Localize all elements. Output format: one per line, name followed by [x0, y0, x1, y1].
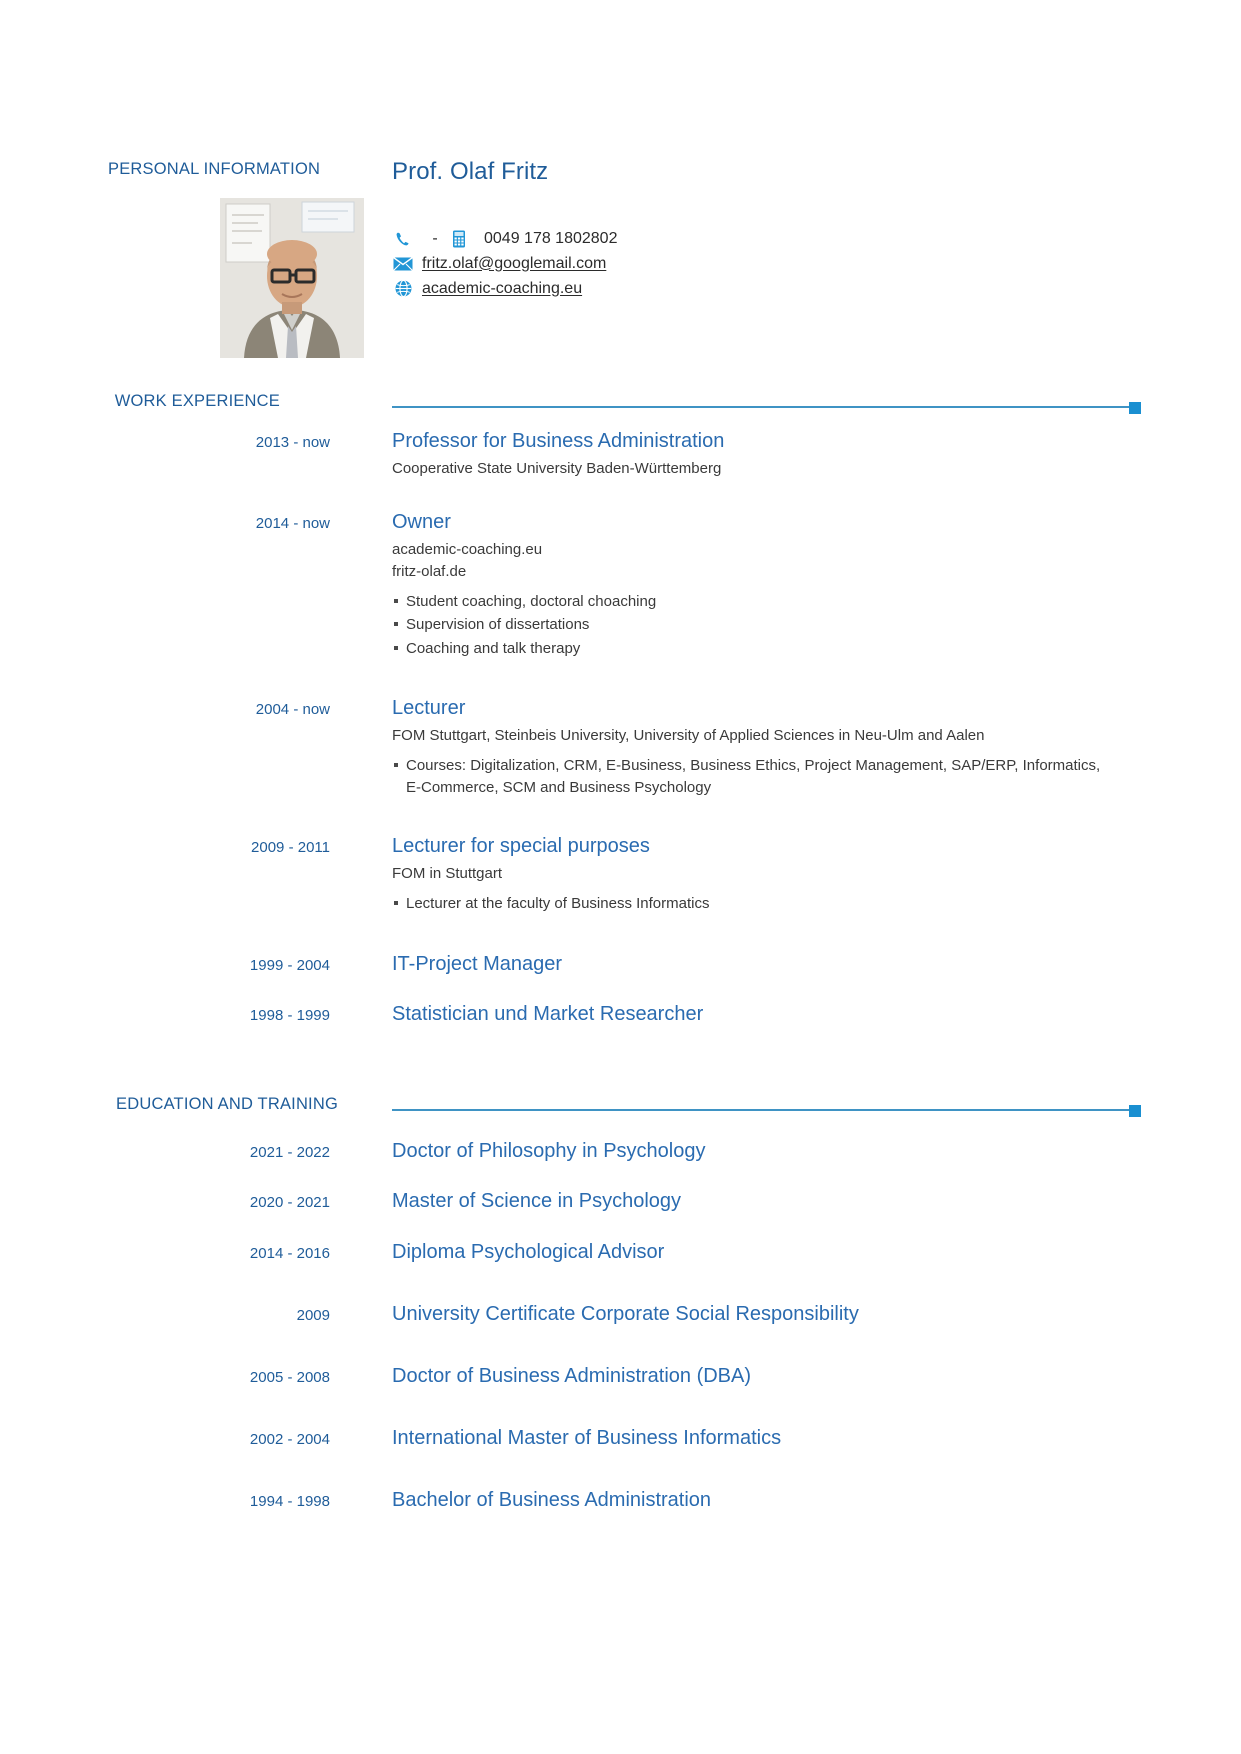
rule-line: [392, 406, 1129, 408]
list-item: Student coaching, doctoral choaching: [392, 591, 1181, 613]
entry-date: 2009: [0, 1307, 330, 1324]
entry-date: 2004 - now: [0, 701, 330, 718]
entry-title: Professor for Business Administration: [392, 430, 1181, 452]
entry-date: 2009 - 2011: [0, 839, 330, 856]
entry-bullet-list: Lecturer at the faculty of Business Info…: [392, 893, 1181, 915]
cv-sheet: PERSONAL INFORMATION Prof. Olaf Fritz: [0, 0, 1241, 1754]
list-item: Courses: Digitalization, CRM, E-Business…: [392, 755, 1106, 799]
entry-body: IT-Project Manager: [392, 953, 1181, 975]
entry-title: Diploma Psychological Advisor: [392, 1241, 1181, 1263]
entry-date: 2021 - 2022: [0, 1144, 330, 1161]
entry-date: 2013 - now: [0, 434, 330, 451]
contact-row-phone: - 0049 17: [392, 226, 1092, 251]
entry-title: Doctor of Philosophy in Psychology: [392, 1140, 1181, 1162]
entry-date: 2014 - 2016: [0, 1245, 330, 1262]
contact-row-website: academic-coaching.eu: [392, 276, 1092, 301]
work-experience-header: WORK EXPERIENCE: [0, 392, 1241, 414]
entry-subtitle: FOM in Stuttgart: [392, 863, 1181, 885]
education-header: EDUCATION AND TRAINING: [0, 1095, 1241, 1117]
entry-body: Lecturer FOM Stuttgart, Steinbeis Univer…: [392, 697, 1181, 800]
entry-title: IT-Project Manager: [392, 953, 1181, 975]
avatar: [220, 198, 364, 358]
personal-information-label: PERSONAL INFORMATION: [108, 160, 408, 179]
list-item: Coaching and talk therapy: [392, 638, 1181, 660]
mobile-phone-value: 0049 178 1802802: [484, 230, 617, 248]
entry-date: 2014 - now: [0, 515, 330, 532]
rule-line: [392, 1109, 1129, 1111]
entry-sub-line: academic-coaching.eu: [392, 539, 1181, 561]
work-experience-rule: [392, 402, 1141, 414]
entry-body: Statistician und Market Researcher: [392, 1003, 1181, 1025]
education-section: EDUCATION AND TRAINING: [0, 1095, 1241, 1117]
entry-body: Owner academic-coaching.eu fritz-olaf.de…: [392, 511, 1181, 662]
entry-title: Bachelor of Business Administration: [392, 1489, 1181, 1511]
work-experience-section: WORK EXPERIENCE: [0, 392, 1241, 414]
rule-end-square: [1129, 1105, 1141, 1117]
entry-body: Lecturer for special purposes FOM in Stu…: [392, 835, 1181, 917]
entry-body: University Certificate Corporate Social …: [392, 1303, 1181, 1325]
entry-body: Doctor of Philosophy in Psychology: [392, 1140, 1181, 1162]
website-link[interactable]: academic-coaching.eu: [422, 280, 582, 298]
entry-title: Doctor of Business Administration (DBA): [392, 1365, 1181, 1387]
rule-end-square: [1129, 402, 1141, 414]
entry-bullet-list: Student coaching, doctoral choaching Sup…: [392, 591, 1181, 660]
entry-bullet-list: Courses: Digitalization, CRM, E-Business…: [392, 755, 1181, 799]
email-icon: [392, 255, 414, 273]
cv-page: PERSONAL INFORMATION Prof. Olaf Fritz: [0, 0, 1241, 1754]
entry-date: 2002 - 2004: [0, 1431, 330, 1448]
phone-value: -: [422, 230, 448, 248]
contact-row-email: fritz.olaf@googlemail.com: [392, 251, 1092, 276]
entry-date: 2005 - 2008: [0, 1369, 330, 1386]
entry-subtitle: FOM Stuttgart, Steinbeis University, Uni…: [392, 725, 1181, 747]
entry-date: 1998 - 1999: [0, 1007, 330, 1024]
entry-date: 2020 - 2021: [0, 1194, 330, 1211]
entry-title: International Master of Business Informa…: [392, 1427, 1181, 1449]
entry-date: 1999 - 2004: [0, 957, 330, 974]
entry-sub-line: Cooperative State University Baden-Württ…: [392, 458, 1181, 480]
entry-title: Owner: [392, 511, 1181, 533]
list-item: Supervision of dissertations: [392, 614, 1181, 636]
entry-subtitle: Cooperative State University Baden-Württ…: [392, 458, 1181, 480]
entry-title: Statistician und Market Researcher: [392, 1003, 1181, 1025]
email-link[interactable]: fritz.olaf@googlemail.com: [422, 255, 606, 273]
entry-body: Diploma Psychological Advisor: [392, 1241, 1181, 1263]
entry-subtitle: academic-coaching.eu fritz-olaf.de: [392, 539, 1181, 583]
entry-sub-line: FOM Stuttgart, Steinbeis University, Uni…: [392, 725, 1181, 747]
contact-details: - 0049 17: [392, 226, 1092, 301]
education-rule: [392, 1105, 1141, 1117]
entry-body: Professor for Business Administration Co…: [392, 430, 1181, 480]
entry-sub-line: fritz-olaf.de: [392, 561, 1181, 583]
entry-body: Master of Science in Psychology: [392, 1190, 1181, 1212]
entry-title: Lecturer: [392, 697, 1181, 719]
entry-body: Bachelor of Business Administration: [392, 1489, 1181, 1511]
entry-body: International Master of Business Informa…: [392, 1427, 1181, 1449]
phone-icon: [392, 230, 414, 248]
globe-icon: [392, 280, 414, 298]
entry-title: Master of Science in Psychology: [392, 1190, 1181, 1212]
entry-title: University Certificate Corporate Social …: [392, 1303, 1181, 1325]
portrait-photo-icon: [220, 198, 364, 358]
list-item: Lecturer at the faculty of Business Info…: [392, 893, 1181, 915]
entry-sub-line: FOM in Stuttgart: [392, 863, 1181, 885]
page-title: Prof. Olaf Fritz: [392, 158, 548, 186]
education-label: EDUCATION AND TRAINING: [0, 1095, 338, 1114]
entry-body: Doctor of Business Administration (DBA): [392, 1365, 1181, 1387]
work-experience-label: WORK EXPERIENCE: [0, 392, 280, 411]
entry-title: Lecturer for special purposes: [392, 835, 1181, 857]
mobile-phone-icon: [448, 230, 470, 248]
entry-date: 1994 - 1998: [0, 1493, 330, 1510]
